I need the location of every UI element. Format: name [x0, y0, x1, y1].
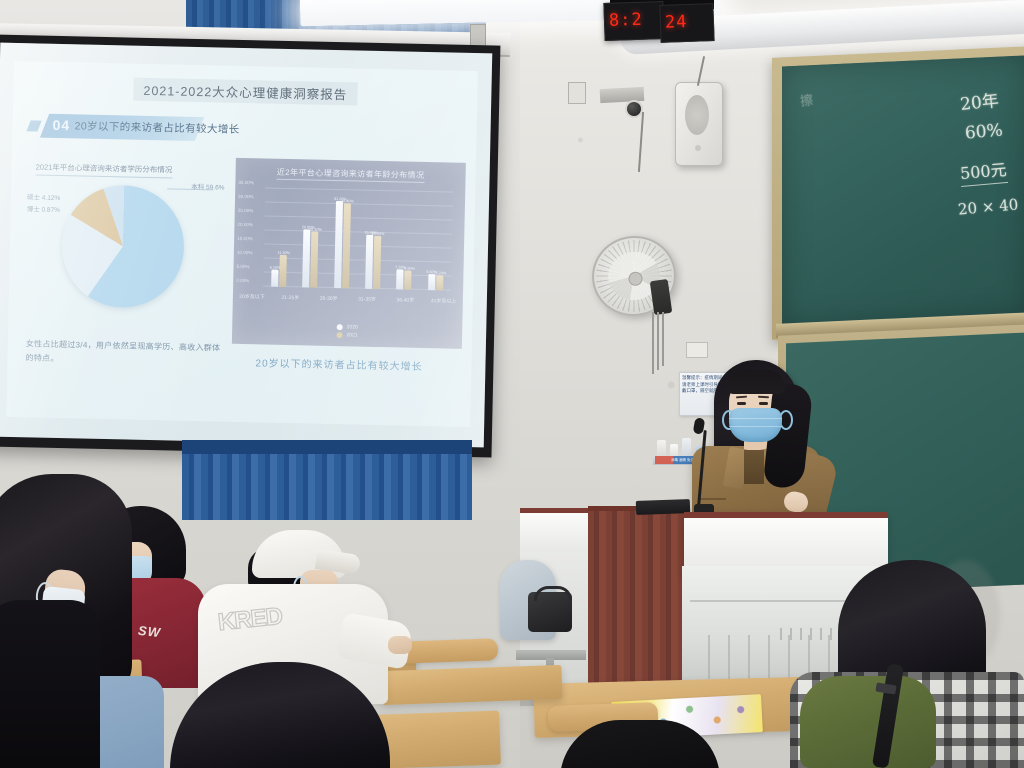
y-axis-tick: 10.00%	[237, 250, 253, 255]
x-axis-label: 21-25岁	[281, 294, 299, 301]
speaker-grille	[685, 95, 709, 135]
bar-chart-legend: 20202021	[336, 322, 358, 340]
wall-speaker	[675, 82, 723, 166]
legend-label: 2021	[346, 332, 357, 338]
presenter-inner-shirt	[744, 450, 764, 484]
bar-2020-41岁及以上	[428, 274, 435, 290]
bar-group: 6.10%11.30%	[271, 189, 288, 287]
bar-2021-31-35岁	[373, 236, 381, 289]
pie-chart-circle	[61, 184, 186, 309]
y-axis-tick: 35.00%	[238, 180, 254, 185]
presenter-face-mask	[729, 408, 782, 442]
section-number: 04	[52, 117, 70, 133]
student-cap-hand	[388, 636, 412, 654]
wall-outlet[interactable]	[686, 342, 708, 358]
presenter-eye-right	[759, 402, 768, 405]
led-clock-right: 24	[659, 3, 714, 43]
desk-row-4	[381, 665, 562, 705]
bag-strap	[534, 586, 572, 601]
presentation-slide: 2021-2022大众心理健康洞察报告 04 20岁以下的来访者占比有较大增长 …	[6, 61, 478, 427]
bar-group: 20.80%20.10%	[303, 189, 320, 287]
presenter-pocket	[700, 498, 726, 500]
bar-group: 7.20%6.80%	[397, 191, 414, 289]
slide-caption: 20岁以下的来访者占比有较大增长	[255, 354, 422, 373]
student-right-backpack	[800, 676, 936, 768]
mask-fold-1	[729, 418, 782, 419]
bar-2021-36-40岁	[405, 271, 412, 290]
bar-2021-26-30岁	[342, 203, 351, 288]
fan-pull-cord-3[interactable]	[662, 312, 664, 366]
bar-value-label: 30.40%	[341, 199, 354, 203]
sanitizer-bottle-3	[682, 438, 691, 458]
chair-back-2	[398, 638, 499, 663]
x-axis-label: 26-30岁	[320, 295, 338, 302]
x-axis-label: 41岁及以上	[431, 297, 457, 305]
chalk-smudge: 擦	[799, 89, 815, 110]
y-axis-tick: 15.00%	[237, 236, 253, 241]
pie-label-bachelor: 本科 59.6%	[191, 181, 224, 192]
y-axis-tick: 5.00%	[236, 264, 249, 269]
bar-value-label: 11.30%	[277, 251, 290, 255]
bar-value-label: 6.10%	[270, 266, 281, 270]
x-axis-label: 36-40岁	[396, 296, 414, 303]
legend-label: 2020	[347, 324, 358, 330]
legend-item: 2020	[337, 324, 358, 330]
classroom-photo: 8:2 24 2021-2022大众心理健康洞察报告 04 20岁以下的来访者占…	[0, 0, 1024, 768]
led-clock-left-digits: 8:2	[609, 10, 643, 31]
legend-dot-icon	[336, 332, 342, 338]
legend-item: 2021	[336, 332, 357, 338]
bar-value-label: 20.10%	[309, 227, 322, 231]
bar-2021-20岁及以下	[279, 255, 287, 287]
wall-fan	[592, 236, 676, 316]
bar-value-label: 5.20%	[435, 272, 446, 276]
y-axis-tick: 30.00%	[238, 194, 254, 199]
y-axis-tick: 20.00%	[237, 222, 253, 227]
led-clock-right-digits: 24	[665, 12, 688, 33]
bar-2020-36-40岁	[397, 269, 404, 289]
bar-2020-21-25岁	[303, 229, 311, 287]
security-camera-icon	[625, 100, 643, 118]
student-left-hair-lower	[0, 600, 100, 768]
pie-label-masters: 硕士 4.12%	[27, 191, 60, 202]
pie-chart: 硕士 4.12% 博士 0.87% 本科 59.6%	[61, 184, 186, 309]
pie-chart-title: 2021年平台心理咨询来访者学历分布情况	[35, 161, 172, 178]
chalk-line-3: 500元	[959, 156, 1008, 187]
fan-pull-cord-2[interactable]	[657, 312, 659, 370]
bar-2020-20岁及以下	[271, 270, 278, 287]
bar-groups: 6.10%11.30%20.80%20.10%31.20%30.40%19.40…	[263, 188, 453, 290]
bar-chart-plot-area: 0.00%5.00%10.00%15.00%20.00%25.00%30.00%…	[263, 188, 453, 290]
chalk-line-2: 60%	[964, 120, 1003, 143]
x-axis-label: 31-35岁	[358, 296, 376, 303]
pie-label-doctorate: 博士 0.87%	[27, 203, 60, 214]
bar-value-label: 6.80%	[404, 267, 415, 271]
podium-laptop[interactable]	[636, 499, 690, 515]
bar-chart-title: 近2年平台心理咨询来访者年龄分布情况	[277, 167, 425, 183]
y-axis-tick: 25.00%	[238, 208, 254, 213]
bar-group: 31.20%30.40%	[334, 190, 351, 288]
chalk-line-1: 20年	[959, 86, 1000, 115]
speaker-led-icon	[695, 145, 701, 151]
bar-value-label: 18.90%	[372, 232, 385, 236]
led-clock-left: 8:2	[603, 1, 664, 41]
curtain-rod-valance	[182, 440, 472, 454]
bar-chart-panel: 近2年平台心理咨询来访者年龄分布情况 0.00%5.00%10.00%15.00…	[232, 158, 466, 349]
projection-surface: 2021-2022大众心理健康洞察报告 04 20岁以下的来访者占比有较大增长 …	[0, 43, 492, 448]
y-axis-tick: 0.00%	[236, 278, 249, 283]
mask-fold-2	[729, 426, 782, 427]
bar-2021-41岁及以上	[436, 276, 443, 291]
projection-screen: 2021-2022大众心理健康洞察报告 04 20岁以下的来访者占比有较大增长 …	[0, 35, 500, 458]
bar-group: 5.60%5.20%	[428, 192, 445, 290]
x-axis-label: 20岁及以下	[239, 293, 265, 301]
bar-group: 19.40%18.90%	[365, 191, 382, 289]
fan-pull-cord-1[interactable]	[652, 312, 654, 374]
slide-title: 2021-2022大众心理健康洞察报告	[133, 78, 357, 106]
bar-2020-31-35岁	[365, 234, 373, 288]
presenter-eye-left	[737, 402, 746, 405]
electrical-junction-box	[568, 82, 586, 104]
section-square-icon	[26, 120, 41, 131]
bar-2021-21-25岁	[311, 231, 319, 287]
slide-body-note: 女性占比超过3/4，用户依然呈现高学历、高收入群体的特点。	[25, 337, 226, 369]
legend-dot-icon	[337, 324, 343, 330]
presenter-bangs	[727, 370, 785, 394]
student-red-hoodie-text: SW	[137, 623, 161, 640]
